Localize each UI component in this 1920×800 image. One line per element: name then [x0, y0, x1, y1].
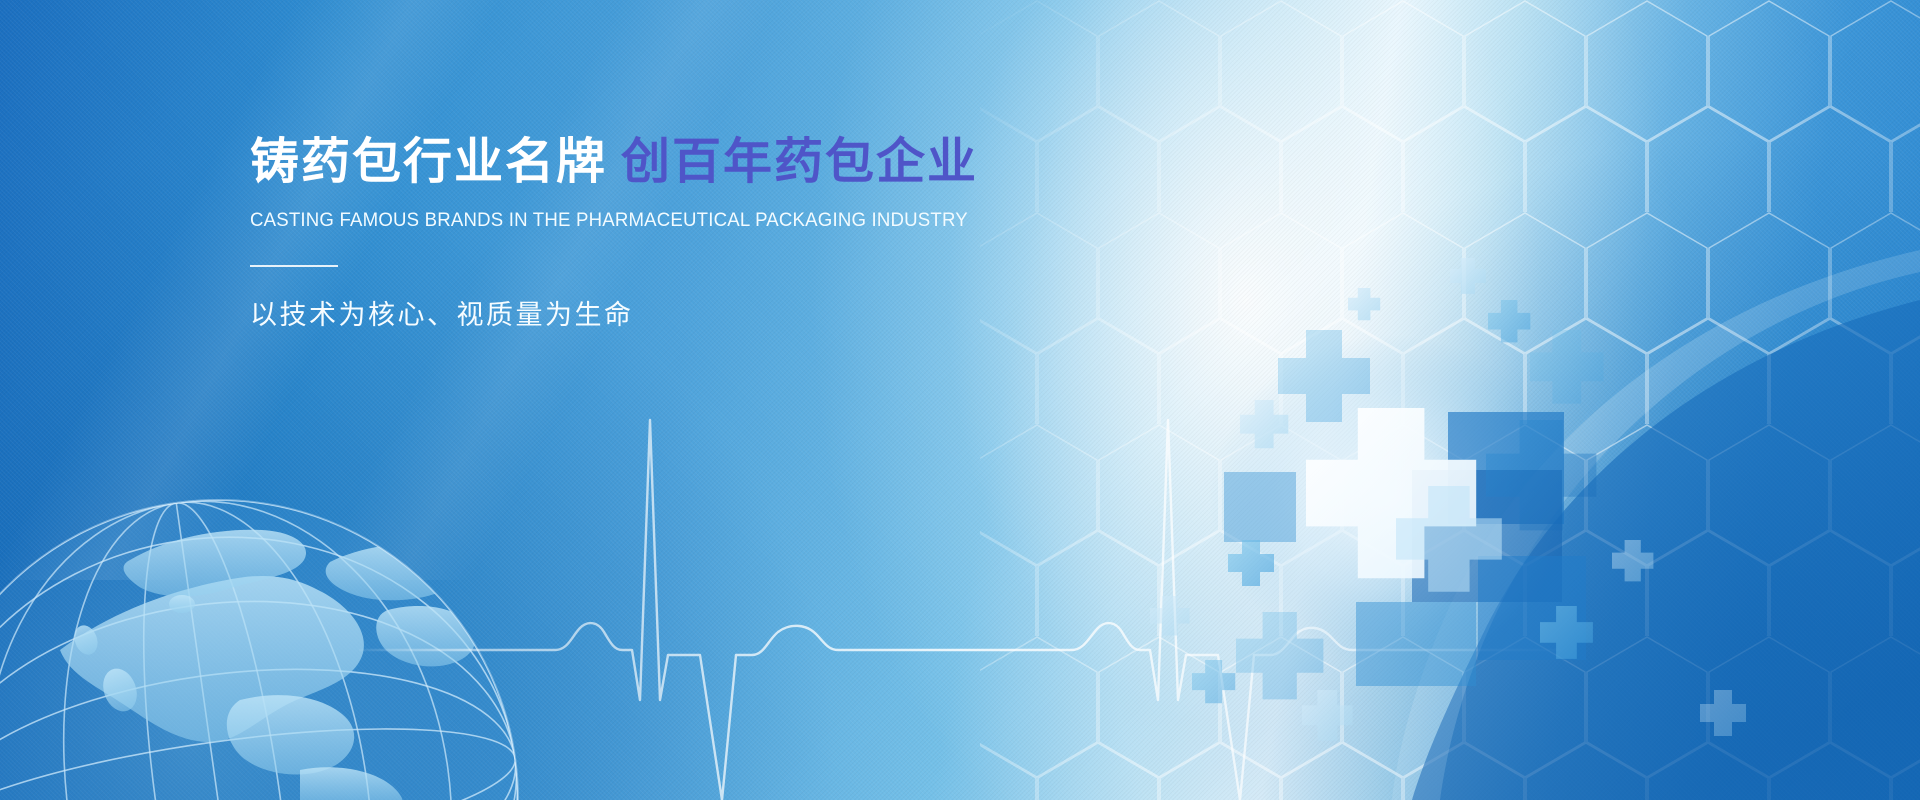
cross-icon-small-8: [1302, 690, 1353, 741]
cross-icon-medium-2: [1486, 420, 1596, 530]
cross-icon-medium-1: [1278, 330, 1370, 422]
headline-secondary: 创百年药包企业: [621, 135, 978, 189]
curved-swoosh: [0, 0, 1920, 800]
cross-icon-medium-3: [1236, 612, 1323, 699]
cross-icon-small-3: [1488, 300, 1530, 342]
cross-small-group: [1150, 258, 1746, 741]
cross-icon-small-1: [1450, 258, 1486, 294]
hero-banner: 铸药包行业名牌创百年药包企业 CASTING FAMOUS BRANDS IN …: [0, 0, 1920, 800]
globe-latitudes: [0, 499, 552, 800]
hexagon-pattern: [0, 0, 1920, 800]
globe-graphic: [0, 0, 1920, 800]
medical-cross-cluster: [0, 0, 1920, 800]
cross-icon-medium-4: [1530, 330, 1604, 404]
globe-body: [0, 461, 557, 800]
cross-deep-blocks: [1224, 412, 1586, 686]
headline-primary: 铸药包行业名牌: [250, 135, 607, 189]
cross-icon-small-11: [1700, 690, 1746, 736]
cross-icon-small-9: [1540, 606, 1593, 659]
cross-icon-secondary: [1396, 486, 1502, 592]
ecg-heartbeat-line: [0, 0, 1920, 800]
globe-rim: [0, 500, 518, 800]
cross-icon-main: [1306, 408, 1476, 578]
headline-subtitle-en: CASTING FAMOUS BRANDS IN THE PHARMACEUTI…: [250, 209, 1033, 232]
cross-icon-small-2: [1348, 288, 1380, 320]
page-title: 铸药包行业名牌创百年药包企业: [250, 136, 1070, 189]
background-texture: [0, 0, 1920, 800]
cross-icon-small-7: [1192, 660, 1235, 703]
cross-icon-small-10: [1612, 540, 1653, 581]
divider-rule: [250, 265, 338, 267]
ecg-path: [360, 420, 1560, 800]
hero-copy: 铸药包行业名牌创百年药包企业 CASTING FAMOUS BRANDS IN …: [250, 136, 1070, 332]
globe-continents: [60, 530, 476, 800]
swoosh-light: [1392, 250, 1920, 800]
cross-icon-small-4: [1240, 400, 1288, 448]
globe-longitudes: [0, 461, 557, 800]
cross-icon-small-6: [1150, 596, 1190, 636]
swoosh-deep: [1412, 300, 1920, 800]
cross-medium-group: [1236, 330, 1604, 699]
cross-glow: [1210, 335, 1570, 665]
hero-tagline: 以技术为核心、视质量为生命: [250, 293, 1070, 332]
cross-icon-small-5: [1228, 540, 1274, 586]
